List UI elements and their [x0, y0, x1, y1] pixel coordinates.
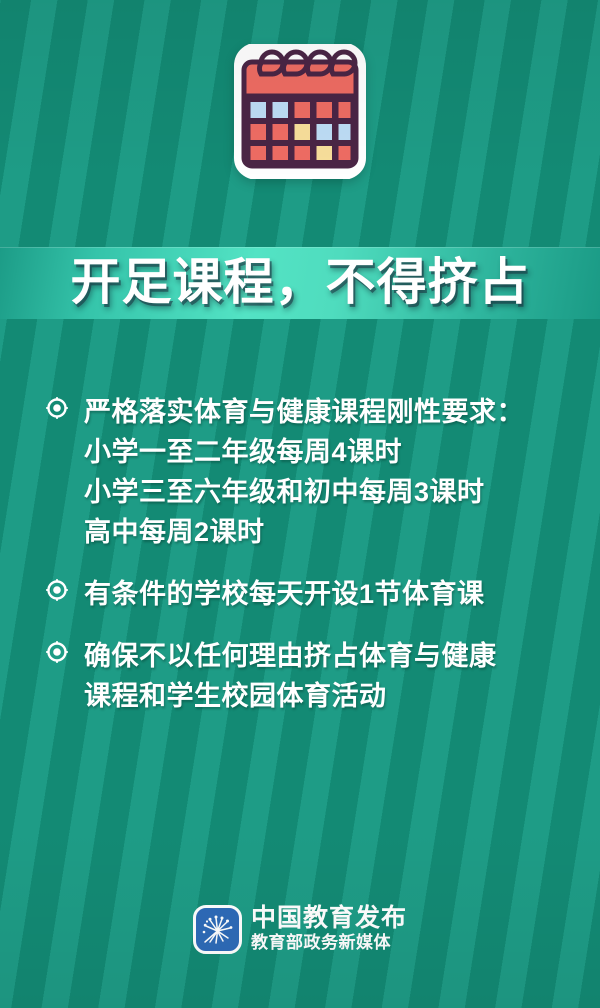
- target-bullet-icon: [44, 574, 70, 612]
- bullet-list: 严格落实体育与健康课程刚性要求： 小学一至二年级每周4课时 小学三至六年级和初中…: [44, 392, 564, 716]
- list-item-line: 课程和学生校园体育活动: [84, 676, 564, 716]
- list-item-line: 小学一至二年级每周4课时: [84, 432, 564, 472]
- list-item-line: 小学三至六年级和初中每周3课时: [84, 472, 564, 512]
- list-item-text: 严格落实体育与健康课程刚性要求： 小学一至二年级每周4课时 小学三至六年级和初中…: [84, 392, 564, 552]
- list-item-line: 严格落实体育与健康课程刚性要求：: [84, 392, 564, 432]
- logo-secondary-text: 教育部政务新媒体: [251, 932, 407, 953]
- page-title: 开足课程，不得挤占: [71, 257, 530, 307]
- dandelion-logo-icon: [193, 905, 242, 954]
- hero-calendar-container: [0, 44, 600, 194]
- list-item-text: 确保不以任何理由挤占体育与健康 课程和学生校园体育活动: [84, 636, 564, 716]
- footer-logo: 中国教育发布 教育部政务新媒体: [0, 899, 600, 959]
- logo-text-block: 中国教育发布 教育部政务新媒体: [251, 905, 407, 953]
- logo-primary-text: 中国教育发布: [251, 905, 407, 932]
- target-bullet-icon: [44, 636, 70, 674]
- list-item-line: 高中每周2课时: [84, 512, 564, 552]
- poster-canvas: 开足课程，不得挤占 严格落实体育与健康课程刚性要求： 小学一至二年级每周4课时 …: [0, 0, 600, 1008]
- list-item-line: 有条件的学校每天开设1节体育课: [84, 574, 564, 614]
- target-bullet-icon: [44, 392, 70, 430]
- list-item: 严格落实体育与健康课程刚性要求： 小学一至二年级每周4课时 小学三至六年级和初中…: [44, 392, 564, 552]
- list-item-text: 有条件的学校每天开设1节体育课: [84, 574, 564, 614]
- list-item: 有条件的学校每天开设1节体育课: [44, 574, 564, 614]
- list-item-line: 确保不以任何理由挤占体育与健康: [84, 636, 564, 676]
- title-banner: 开足课程，不得挤占: [0, 247, 600, 319]
- calendar-icon: [220, 44, 380, 179]
- list-item: 确保不以任何理由挤占体育与健康 课程和学生校园体育活动: [44, 636, 564, 716]
